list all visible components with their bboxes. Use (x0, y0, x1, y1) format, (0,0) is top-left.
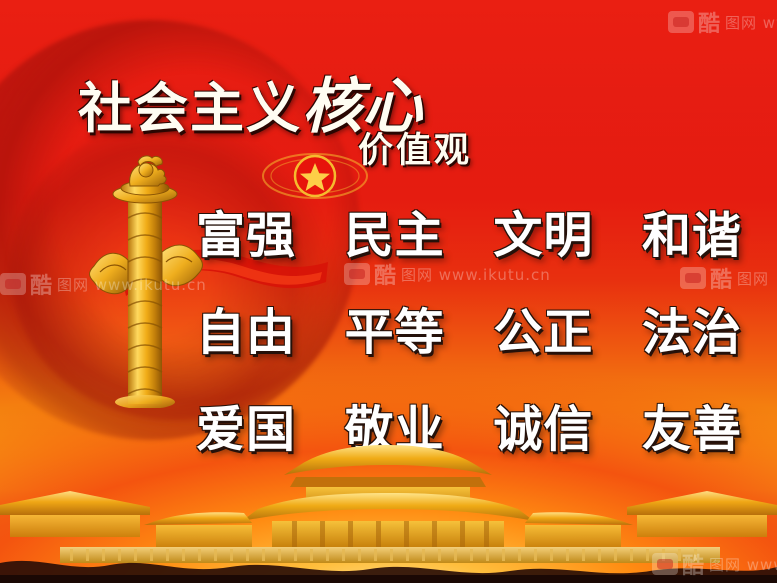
huabiao-pillar-icon (86, 148, 206, 408)
values-row: 自由 平等 公正 法治 (196, 293, 742, 364)
forbidden-city-skyline-icon (0, 403, 777, 583)
poster-canvas: 社会主义核心 价值观 富强 民主 文明 和谐 自由 平等 公正 法治 爱国 敬业… (0, 0, 777, 583)
value-word: 公正 (493, 293, 593, 364)
value-word: 自由 (196, 293, 296, 364)
page-title-text: 社会主义 (78, 76, 302, 140)
value-word: 法治 (642, 293, 742, 364)
value-word: 和谐 (642, 196, 742, 267)
value-word: 民主 (345, 196, 445, 267)
value-word: 富强 (196, 196, 296, 267)
value-word: 文明 (493, 196, 593, 267)
values-row: 富强 民主 文明 和谐 (196, 196, 742, 267)
page-subtitle: 价值观 (358, 122, 472, 173)
value-word: 平等 (345, 293, 445, 364)
